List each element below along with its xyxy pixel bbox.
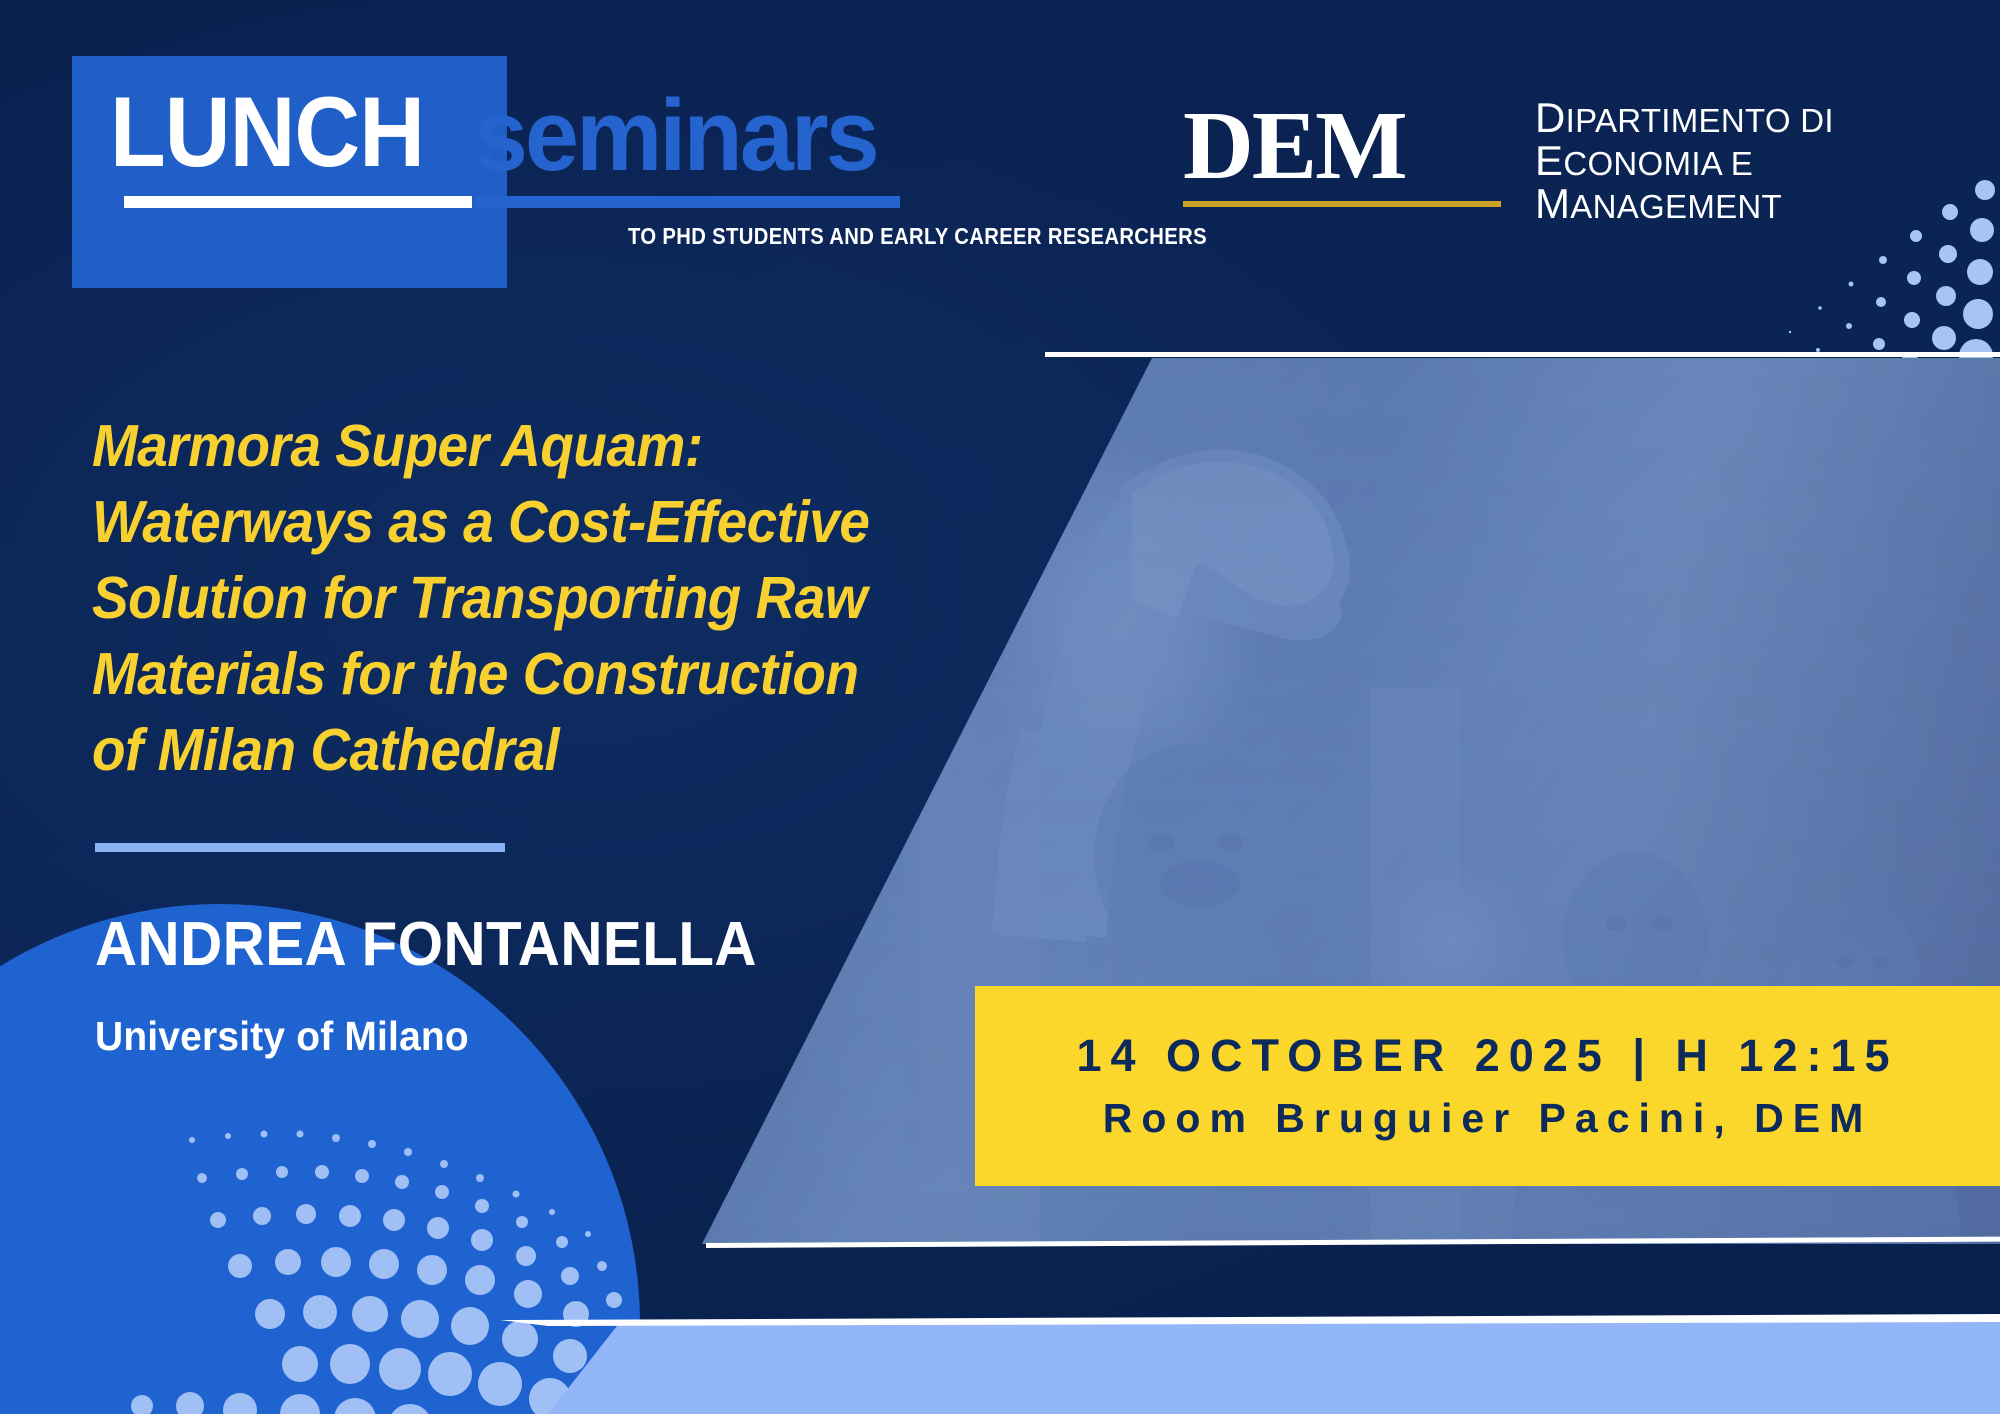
logo-word-seminars: seminars (474, 82, 877, 190)
dem-line-1: DIPARTIMENTO DI (1535, 98, 1834, 141)
photo-top-rule (1045, 352, 2000, 357)
event-details-banner: 14 OCTOBER 2025 | H 12:15 Room Bruguier … (975, 986, 2000, 1186)
title-line-3: Solution for Transporting Raw (92, 560, 910, 636)
dem-line-3-rest: ANAGEMENT (1570, 188, 1782, 225)
dem-line-3: MANAGEMENT (1535, 184, 1834, 227)
logo-wordmark: LUNCH seminars (102, 78, 1082, 210)
logo-lockup: LUNCH seminars TO PHD STUDENTS AND EARLY… (102, 78, 1082, 210)
title-line-1: Marmora Super Aquam: (92, 408, 910, 484)
speaker-name: ANDREA FONTANELLA (95, 908, 757, 982)
dem-line-1-cap: D (1535, 94, 1566, 141)
title-divider (95, 843, 505, 852)
event-date-time: 14 OCTOBER 2025 | H 12:15 (1076, 1031, 1898, 1081)
logo-word-lunch: LUNCH (110, 78, 424, 186)
dem-line-1-rest: IPARTIMENTO DI (1566, 102, 1834, 139)
dem-line-2-rest: CONOMIA E (1563, 145, 1753, 182)
dem-fullname: DIPARTIMENTO DI ECONOMIA E MANAGEMENT (1535, 98, 1834, 227)
speaker-affiliation: University of Milano (95, 1010, 469, 1062)
seminar-poster: LUNCH seminars TO PHD STUDENTS AND EARLY… (0, 0, 2000, 1414)
lunch-seminars-logo: LUNCH seminars TO PHD STUDENTS AND EARLY… (72, 56, 1082, 288)
title-line-5: of Milan Cathedral (92, 712, 910, 788)
dem-line-2-cap: E (1535, 137, 1563, 184)
dem-line-2: ECONOMIA E (1535, 141, 1834, 184)
dem-logo: DEM DIPARTIMENTO DI ECONOMIA E MANAGEMEN… (1183, 96, 1883, 236)
title-line-2: Waterways as a Cost-Effective (92, 484, 910, 560)
logo-tagline: TO PHD STUDENTS AND EARLY CAREER RESEARC… (628, 222, 1207, 250)
logo-rule-blue (476, 196, 900, 208)
event-location: Room Bruguier Pacini, DEM (1103, 1095, 1872, 1141)
dem-line-3-cap: M (1535, 180, 1570, 227)
dem-letters: DEM (1183, 96, 1513, 196)
logo-rule-white (124, 196, 472, 208)
seminar-title: Marmora Super Aquam: Waterways as a Cost… (92, 408, 910, 788)
dem-gold-underline (1183, 201, 1501, 207)
dem-mark: DEM (1183, 96, 1513, 207)
title-line-4: Materials for the Construction (92, 636, 910, 712)
